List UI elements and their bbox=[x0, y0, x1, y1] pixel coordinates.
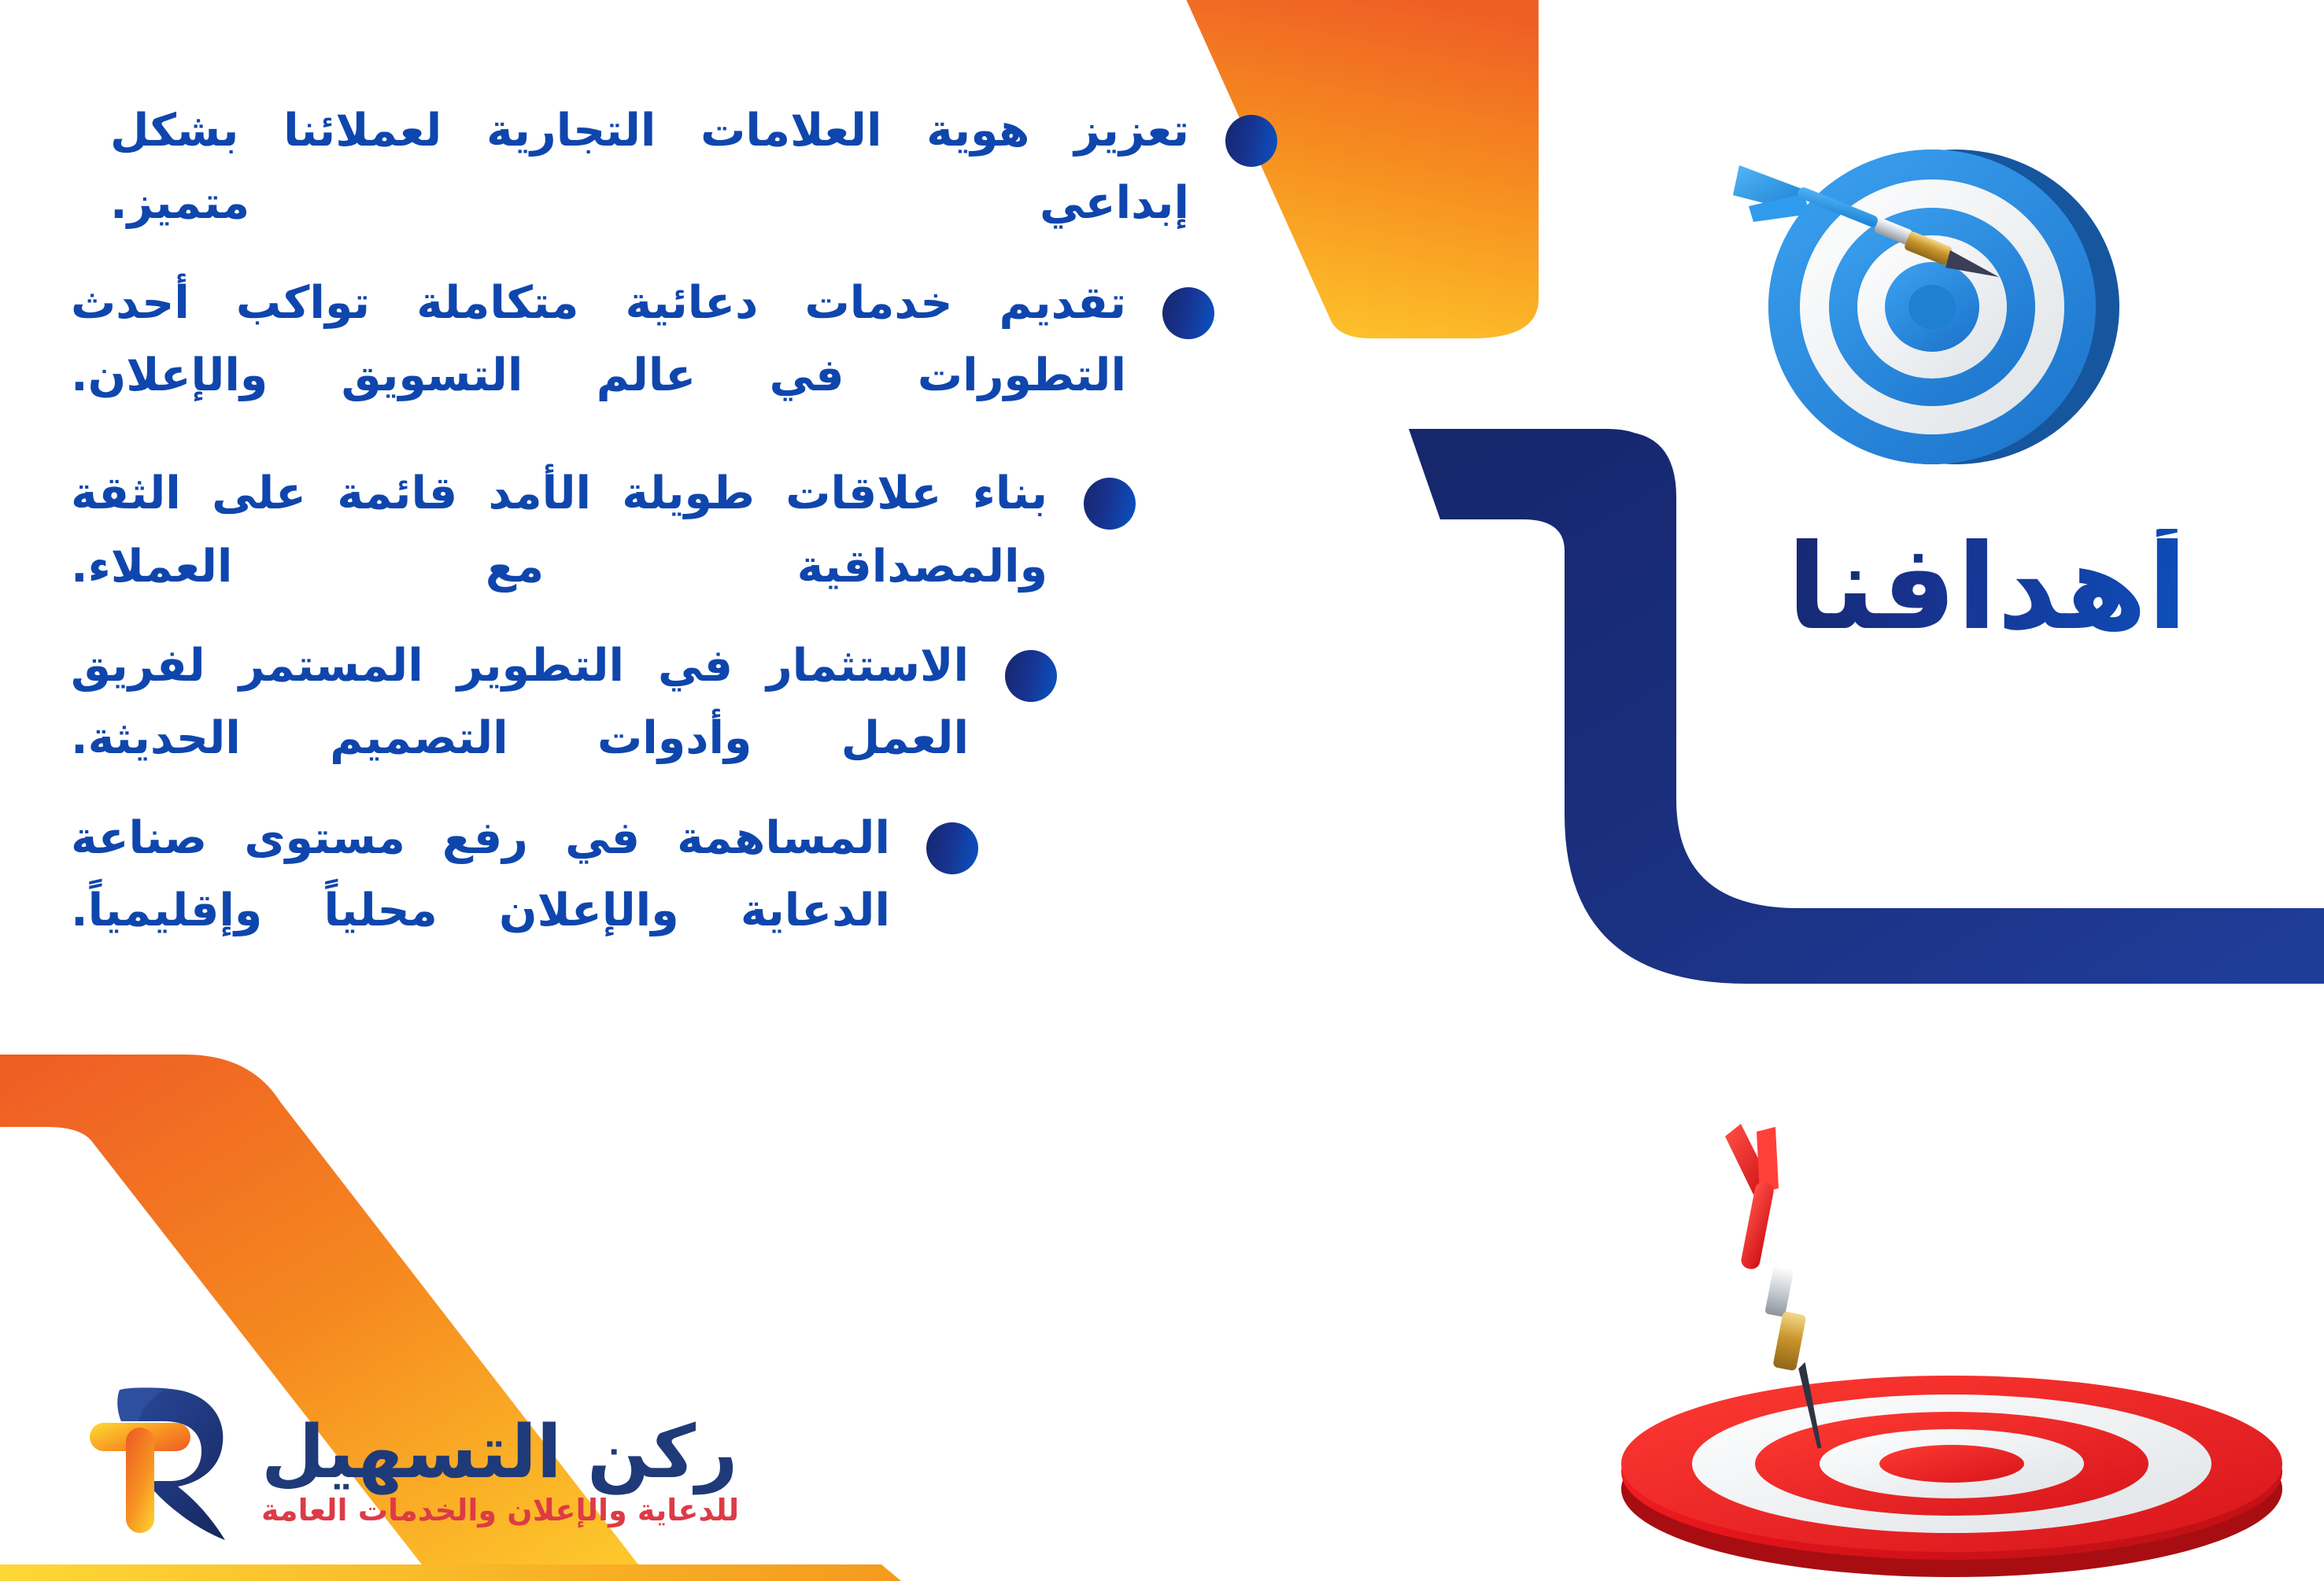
goal-text: تقديم خدمات دعائية متكاملة تواكب أحدث ال… bbox=[71, 267, 1126, 412]
blue-dartboard-graphic bbox=[1733, 150, 2119, 464]
company-name: ركن التسهيل bbox=[261, 1415, 737, 1490]
goal-text: تعزيز هوية العلامات التجارية لعملائنا بش… bbox=[110, 94, 1189, 240]
goal-text: الاستثمار في التطوير المستمر لفريق العمل… bbox=[71, 630, 969, 775]
goal-item: تعزيز هوية العلامات التجارية لعملائنا بش… bbox=[71, 94, 1277, 240]
goal-item: الاستثمار في التطوير المستمر لفريق العمل… bbox=[71, 630, 1277, 775]
goal-text: المساهمة في رفع مستوى صناعة الدعاية والإ… bbox=[71, 802, 890, 947]
goal-text: بناء علاقات طويلة الأمد قائمة على الثقة … bbox=[71, 457, 1047, 603]
bullet-dot-icon bbox=[926, 822, 978, 874]
red-dartboard-graphic bbox=[1621, 1124, 2282, 1577]
yellow-baseline-strip bbox=[0, 1564, 901, 1581]
goal-item: المساهمة في رفع مستوى صناعة الدعاية والإ… bbox=[71, 802, 1277, 947]
brand-text-block: ركن التسهيل للدعاية والإعلان والخدمات ال… bbox=[261, 1415, 739, 1527]
poster-canvas: تعزيز هوية العلامات التجارية لعملائنا بش… bbox=[0, 0, 2324, 1581]
page-title: أهدافنا bbox=[1775, 529, 2200, 647]
bullet-dot-icon bbox=[1084, 478, 1136, 530]
goal-item: تقديم خدمات دعائية متكاملة تواكب أحدث ال… bbox=[71, 267, 1277, 412]
brand-lockup: ركن التسهيل للدعاية والإعلان والخدمات ال… bbox=[76, 1387, 739, 1556]
bullet-dot-icon bbox=[1162, 287, 1214, 339]
company-logo-mark-icon bbox=[76, 1387, 241, 1556]
company-tagline: للدعاية والإعلان والخدمات العامة bbox=[261, 1494, 739, 1527]
goals-list: تعزيز هوية العلامات التجارية لعملائنا بش… bbox=[71, 94, 1277, 973]
goal-item: بناء علاقات طويلة الأمد قائمة على الثقة … bbox=[71, 457, 1277, 603]
navy-swoosh-fill bbox=[1413, 431, 2324, 980]
bullet-dot-icon bbox=[1005, 650, 1057, 702]
bullet-dot-icon bbox=[1225, 115, 1277, 167]
